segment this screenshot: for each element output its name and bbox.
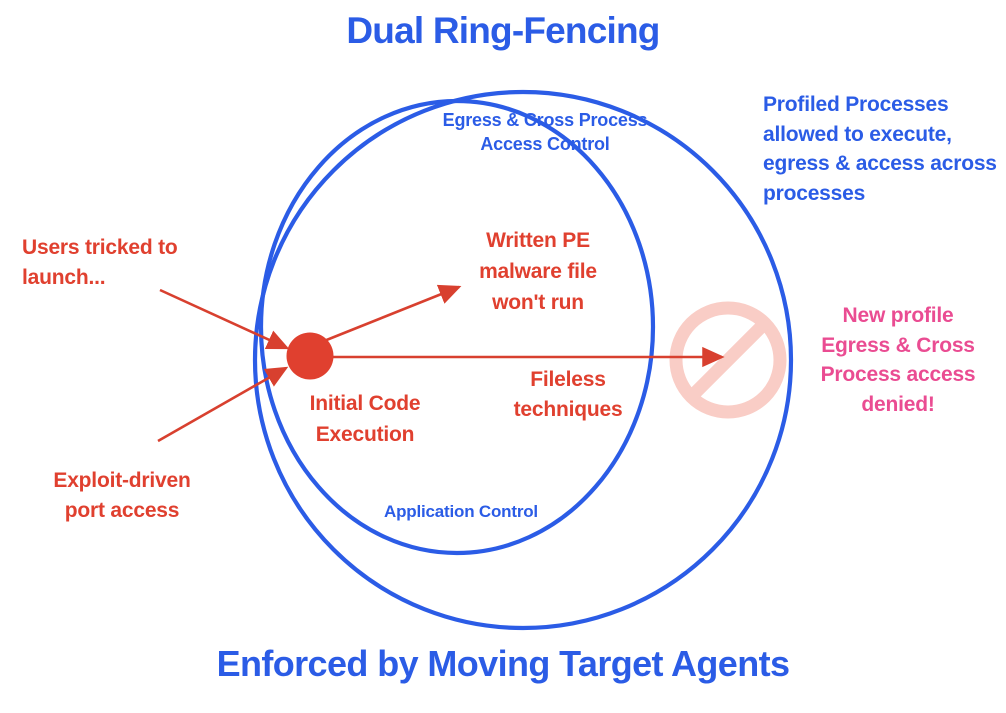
inner-ring-label: Application Control <box>358 501 564 523</box>
note-users-tricked: Users tricked to launch... <box>22 233 242 293</box>
prohibition-sign-icon <box>676 308 780 412</box>
note-initial-code-execution: Initial Code Execution <box>283 388 447 450</box>
note-fileless-techniques: Fileless techniques <box>490 365 646 425</box>
arrow-users-tricked <box>160 290 287 348</box>
inner-ring-ellipse <box>261 101 653 553</box>
note-profiled-processes: Profiled Processes allowed to execute, e… <box>763 90 1003 208</box>
note-written-pe-malware: Written PE malware file won't run <box>450 225 626 318</box>
initial-code-execution-dot <box>287 333 334 380</box>
outer-ring-circle <box>255 92 791 628</box>
page-title: Dual Ring-Fencing <box>0 8 1006 54</box>
outer-ring-label: Egress & Cross Process Access Control <box>404 108 686 156</box>
page-footer: Enforced by Moving Target Agents <box>0 641 1006 687</box>
arrow-exploit-driven <box>158 368 286 441</box>
note-new-profile-denied: New profile Egress & Cross Process acces… <box>800 301 996 419</box>
note-exploit-driven: Exploit-driven port access <box>22 466 222 526</box>
arrow-written-pe <box>324 287 459 341</box>
dual-ring-fencing-diagram: Dual Ring-Fencing Egress & Cross Process… <box>0 0 1006 713</box>
